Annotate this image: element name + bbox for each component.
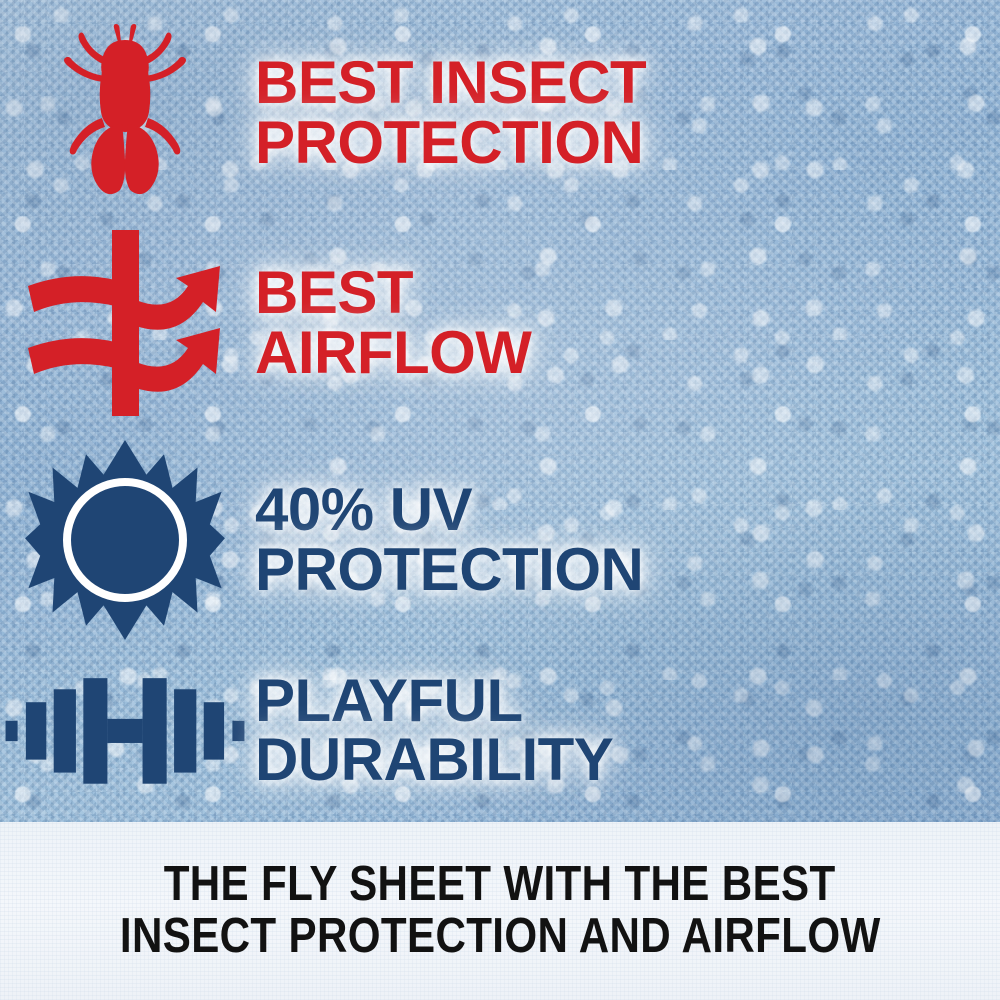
feature-icon-cell (0, 660, 250, 800)
feature-icon-cell (0, 440, 250, 640)
feature-text-cell: PLAYFUL DURABILITY (255, 671, 613, 790)
sun-uv-icon (25, 440, 225, 640)
sun-burst-shape (25, 440, 225, 640)
feature-text-cell: 40% UV PROTECTION (255, 480, 643, 599)
feature-row-airflow: BEST AIRFLOW (0, 215, 531, 430)
airflow-icon (20, 228, 230, 418)
feature-label-line1: PLAYFUL (255, 671, 613, 730)
feature-list: BEST INSECT PROTECTION (0, 0, 1000, 822)
feature-icon-cell (0, 228, 250, 418)
feature-label-line2: PROTECTION (255, 540, 643, 599)
feature-row-insect-protection: BEST INSECT PROTECTION (0, 10, 646, 215)
feature-label-line2: DURABILITY (255, 730, 613, 789)
feature-label-line2: PROTECTION (255, 113, 646, 172)
feature-icon-cell (0, 20, 250, 205)
feature-row-durability: PLAYFUL DURABILITY (0, 640, 613, 820)
feature-text-cell: BEST AIRFLOW (255, 263, 531, 382)
feature-label-line1: 40% UV (255, 480, 643, 539)
tagline-line2: INSECT PROTECTION AND AIRFLOW (120, 911, 881, 963)
product-feature-poster: BEST INSECT PROTECTION (0, 0, 1000, 1000)
bottom-tagline-banner: THE FLY SHEET WITH THE BEST INSECT PROTE… (0, 822, 1000, 1000)
feature-label-line1: BEST INSECT (255, 53, 646, 112)
feature-label-line2: AIRFLOW (255, 323, 531, 382)
tagline-line1: THE FLY SHEET WITH THE BEST (164, 859, 836, 911)
dumbbell-icon (0, 660, 250, 800)
feature-text-cell: BEST INSECT PROTECTION (255, 53, 646, 172)
feature-row-uv-protection: 40% UV PROTECTION (0, 432, 643, 647)
feature-label-line1: BEST (255, 263, 531, 322)
fly-icon (50, 20, 200, 205)
